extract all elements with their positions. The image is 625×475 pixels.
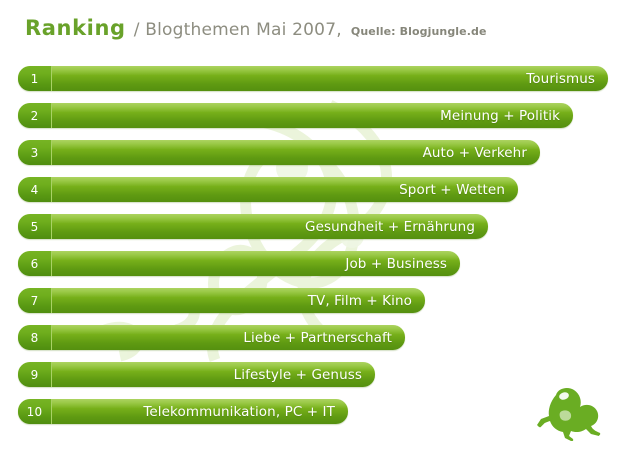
rank-cell: 10 bbox=[18, 399, 52, 424]
rank-cell: 4 bbox=[18, 177, 52, 202]
bar-label: Lifestyle + Genuss bbox=[234, 362, 362, 387]
ranking-bar[interactable]: 3Auto + Verkehr bbox=[18, 140, 540, 165]
bar-row[interactable]: 9Lifestyle + Genuss bbox=[18, 362, 375, 387]
ranking-bar-chart: 1Tourismus2Meinung + Politik3Auto + Verk… bbox=[0, 0, 625, 475]
ranking-bar[interactable]: 2Meinung + Politik bbox=[18, 103, 573, 128]
ranking-bar[interactable]: 5Gesundheit + Ernährung bbox=[18, 214, 488, 239]
rank-number: 9 bbox=[31, 369, 39, 381]
bar-label: Job + Business bbox=[345, 251, 447, 276]
ranking-bar[interactable]: 10Telekommunikation, PC + IT bbox=[18, 399, 348, 424]
ranking-bar[interactable]: 6Job + Business bbox=[18, 251, 460, 276]
rank-number: 3 bbox=[31, 147, 39, 159]
rank-cell: 3 bbox=[18, 140, 52, 165]
rank-cell: 7 bbox=[18, 288, 52, 313]
title-source: Quelle: Blogjungle.de bbox=[351, 25, 487, 38]
rank-number: 5 bbox=[31, 221, 39, 233]
ranking-bar[interactable]: 1Tourismus bbox=[18, 66, 608, 91]
bar-label: Sport + Wetten bbox=[399, 177, 505, 202]
frog-logo-icon bbox=[536, 383, 608, 441]
title-main: Ranking bbox=[25, 16, 126, 40]
ranking-bar[interactable]: 9Lifestyle + Genuss bbox=[18, 362, 375, 387]
bar-gloss bbox=[18, 66, 608, 75]
bar-row[interactable]: 1Tourismus bbox=[18, 66, 608, 91]
bar-label: Tourismus bbox=[526, 66, 595, 91]
bar-row[interactable]: 10Telekommunikation, PC + IT bbox=[18, 399, 348, 424]
rank-cell: 8 bbox=[18, 325, 52, 350]
bar-row[interactable]: 8Liebe + Partnerschaft bbox=[18, 325, 405, 350]
bar-row[interactable]: 6Job + Business bbox=[18, 251, 460, 276]
bar-row[interactable]: 4Sport + Wetten bbox=[18, 177, 518, 202]
rank-number: 4 bbox=[31, 184, 39, 196]
ranking-bar[interactable]: 4Sport + Wetten bbox=[18, 177, 518, 202]
ranking-bar[interactable]: 7TV, Film + Kino bbox=[18, 288, 425, 313]
rank-cell: 6 bbox=[18, 251, 52, 276]
rank-number: 6 bbox=[31, 258, 39, 270]
bar-label: Auto + Verkehr bbox=[423, 140, 527, 165]
ranking-bar[interactable]: 8Liebe + Partnerschaft bbox=[18, 325, 405, 350]
bar-label: TV, Film + Kino bbox=[308, 288, 412, 313]
bar-row[interactable]: 3Auto + Verkehr bbox=[18, 140, 540, 165]
rank-number: 10 bbox=[27, 406, 43, 418]
bar-row[interactable]: 5Gesundheit + Ernährung bbox=[18, 214, 488, 239]
rank-cell: 9 bbox=[18, 362, 52, 387]
rank-number: 8 bbox=[31, 332, 39, 344]
bar-label: Gesundheit + Ernährung bbox=[305, 214, 475, 239]
title-subtitle: / Blogthemen Mai 2007, bbox=[134, 20, 342, 40]
rank-number: 2 bbox=[31, 110, 39, 122]
bar-row[interactable]: 2Meinung + Politik bbox=[18, 103, 573, 128]
bar-label: Liebe + Partnerschaft bbox=[243, 325, 392, 350]
rank-cell: 2 bbox=[18, 103, 52, 128]
bar-row[interactable]: 7TV, Film + Kino bbox=[18, 288, 425, 313]
rank-cell: 1 bbox=[18, 66, 52, 91]
bar-label: Meinung + Politik bbox=[440, 103, 560, 128]
rank-number: 1 bbox=[31, 73, 39, 85]
rank-number: 7 bbox=[31, 295, 39, 307]
rank-cell: 5 bbox=[18, 214, 52, 239]
bar-label: Telekommunikation, PC + IT bbox=[143, 399, 335, 424]
page-title: Ranking / Blogthemen Mai 2007, Quelle: B… bbox=[25, 18, 487, 39]
